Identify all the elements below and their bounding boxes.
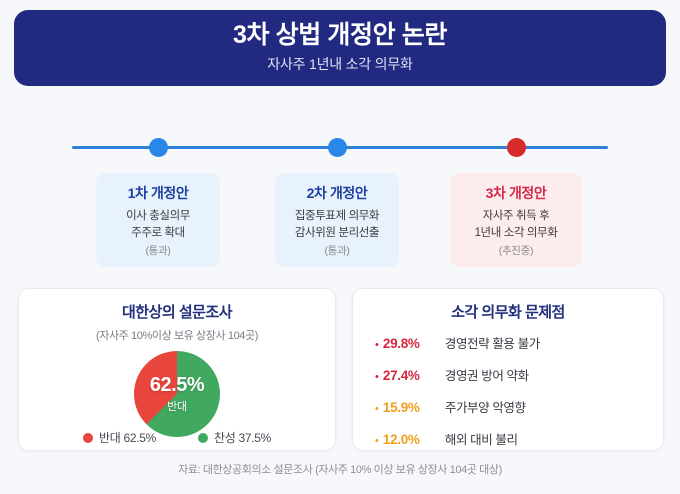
survey-panel: 대한상의 설문조사 (자사주 10%이상 보유 상장사 104곳) 62.5% …	[18, 288, 336, 451]
issues-panel: 소각 의무화 문제점 • 29.8% 경영전략 활용 불가 • 27.4% 경영…	[352, 288, 664, 451]
list-item: • 12.0% 해외 대비 불리	[375, 429, 649, 448]
amendment-timeline: 1차 개정안 이사 충실의무 주주로 확대 (통과) 2차 개정안 집중투표제 …	[0, 118, 680, 268]
survey-panel-title: 대한상의 설문조사	[19, 301, 335, 322]
timeline-card-line-2: 감사위원 분리선출	[281, 225, 393, 242]
issues-list: • 29.8% 경영전략 활용 불가 • 27.4% 경영권 방어 약화 • 1…	[375, 333, 649, 448]
list-item: • 27.4% 경영권 방어 약화	[375, 365, 649, 384]
timeline-card-title: 1차 개정안	[102, 183, 214, 203]
legend-item-agree: 찬성 37.5%	[198, 429, 271, 446]
list-item: • 15.9% 주가부양 악영향	[375, 397, 649, 416]
legend-swatch-icon	[198, 433, 208, 443]
bullet-dot-icon: •	[375, 372, 379, 383]
timeline-card-line-2: 주주로 확대	[102, 225, 214, 242]
timeline-card-step-2[interactable]: 2차 개정안 집중투표제 의무화 감사위원 분리선출 (통과)	[275, 173, 399, 267]
page-subtitle: 자사주 1년내 소각 의무화	[267, 54, 412, 74]
timeline-card-title: 3차 개정안	[456, 183, 576, 203]
header-banner: 3차 상법 개정안 논란 자사주 1년내 소각 의무화	[14, 10, 666, 86]
timeline-card-line-1: 집중투표제 의무화	[281, 208, 393, 225]
pie-chart: 62.5% 반대	[134, 351, 220, 437]
legend-label: 찬성 37.5%	[214, 429, 271, 446]
pie-legend: 반대 62.5% 찬성 37.5%	[19, 429, 335, 446]
pie-chart-shape	[134, 351, 220, 437]
timeline-card-status: (추진중)	[456, 243, 576, 258]
timeline-dot-step-1	[149, 138, 168, 157]
timeline-card-line-2: 1년내 소각 의무화	[456, 225, 576, 242]
timeline-card-step-1[interactable]: 1차 개정안 이사 충실의무 주주로 확대 (통과)	[96, 173, 220, 267]
issue-label: 경영권 방어 약화	[445, 365, 529, 384]
timeline-dot-step-3	[507, 138, 526, 157]
timeline-card-step-3[interactable]: 3차 개정안 자사주 취득 후 1년내 소각 의무화 (추진중)	[450, 173, 582, 267]
source-note: 자료: 대한상공회의소 설문조사 (자사주 10% 이상 보유 상장사 104곳…	[0, 461, 680, 477]
issue-percentage: 12.0%	[383, 432, 433, 447]
issue-label: 해외 대비 불리	[445, 429, 518, 448]
timeline-card-title: 2차 개정안	[281, 183, 393, 203]
bullet-dot-icon: •	[375, 404, 379, 415]
issues-panel-title: 소각 의무화 문제점	[353, 301, 663, 322]
timeline-dot-step-2	[328, 138, 347, 157]
timeline-card-line-1: 자사주 취득 후	[456, 208, 576, 225]
timeline-card-status: (통과)	[102, 243, 214, 258]
legend-swatch-icon	[83, 433, 93, 443]
issue-percentage: 27.4%	[383, 368, 433, 383]
bullet-dot-icon: •	[375, 340, 379, 351]
timeline-card-status: (통과)	[281, 243, 393, 258]
issue-label: 주가부양 악영향	[445, 397, 526, 416]
list-item: • 29.8% 경영전략 활용 불가	[375, 333, 649, 352]
legend-label: 반대 62.5%	[99, 429, 156, 446]
timeline-card-line-1: 이사 충실의무	[102, 208, 214, 225]
legend-item-oppose: 반대 62.5%	[83, 429, 156, 446]
page-title: 3차 상법 개정안 논란	[233, 22, 447, 50]
survey-panel-subtitle: (자사주 10%이상 보유 상장사 104곳)	[19, 327, 335, 343]
issue-label: 경영전략 활용 불가	[445, 333, 540, 352]
bullet-dot-icon: •	[375, 436, 379, 447]
issue-percentage: 29.8%	[383, 336, 433, 351]
issue-percentage: 15.9%	[383, 400, 433, 415]
